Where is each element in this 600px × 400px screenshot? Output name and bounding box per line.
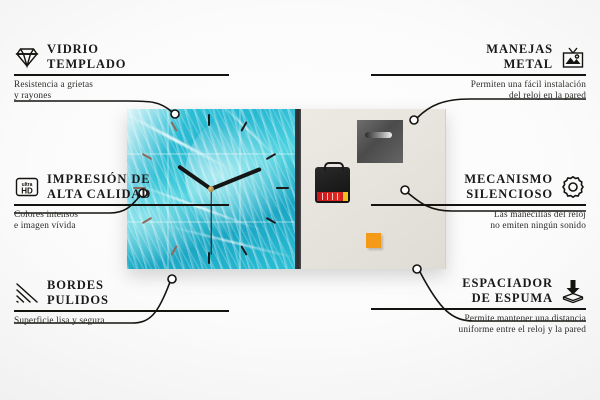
feature-desc-line2: uniforme entre el reloj y la pared bbox=[371, 325, 586, 337]
feature-desc-line1: Superficie lisa y segura bbox=[14, 316, 229, 328]
foam-spacer bbox=[366, 233, 381, 248]
feature-impresion-alta-calidad: ultra HD IMPRESIÓN DE ALTA CALIDAD Color… bbox=[14, 172, 229, 233]
clock-mechanism bbox=[315, 167, 350, 203]
feature-desc-line2: del reloj en la pared bbox=[371, 91, 586, 103]
feature-manejas-metal: MANEJAS METAL Permiten una fácil instala… bbox=[371, 42, 586, 103]
feature-title-line2: ALTA CALIDAD bbox=[47, 187, 151, 202]
feature-desc-line1: Permite mantener una distancia bbox=[371, 314, 586, 326]
feature-desc-line1: Permiten una fácil instalación bbox=[371, 80, 586, 92]
feature-title-line1: MANEJAS bbox=[486, 42, 553, 57]
feature-title-line1: VIDRIO bbox=[47, 42, 126, 57]
feature-espaciador-espuma: ESPACIADOR DE ESPUMA Permite mantener un… bbox=[371, 276, 586, 337]
hanger-plate bbox=[357, 120, 403, 163]
feature-divider bbox=[14, 204, 229, 206]
foam-spacer-icon bbox=[560, 278, 586, 304]
gear-icon bbox=[560, 174, 586, 200]
diamond-icon bbox=[14, 44, 40, 70]
framed-picture-icon bbox=[560, 44, 586, 70]
feature-title-line2: PULIDOS bbox=[47, 293, 109, 308]
feature-divider bbox=[371, 74, 586, 76]
feature-title-line2: TEMPLADO bbox=[47, 57, 126, 72]
feature-desc-line1: Resistencia a grietas bbox=[14, 80, 229, 92]
feature-mecanismo-silencioso: MECANISMO SILENCIOSO Las manecillas del … bbox=[371, 172, 586, 233]
feature-desc-line1: Las manecillas del reloj bbox=[371, 210, 586, 222]
feature-desc-line2: y rayones bbox=[14, 91, 229, 103]
polished-edge-icon bbox=[14, 280, 40, 306]
feature-title-line1: IMPRESIÓN DE bbox=[47, 172, 151, 187]
feature-divider bbox=[371, 308, 586, 310]
feature-divider bbox=[14, 74, 229, 76]
feature-divider bbox=[371, 204, 586, 206]
feature-vidrio-templado: VIDRIO TEMPLADO Resistencia a grietas y … bbox=[14, 42, 229, 103]
feature-title-line2: DE ESPUMA bbox=[462, 291, 553, 306]
feature-desc-line2: no emiten ningún sonido bbox=[371, 221, 586, 233]
feature-divider bbox=[14, 310, 229, 312]
feature-title-line1: BORDES bbox=[47, 278, 109, 293]
svg-text:HD: HD bbox=[21, 186, 33, 195]
ultra-hd-icon: ultra HD bbox=[14, 174, 40, 200]
feature-desc-line1: Colores intensos bbox=[14, 210, 229, 222]
feature-bordes-pulidos: BORDES PULIDOS Superficie lisa y segura bbox=[14, 278, 229, 327]
feature-title-line1: ESPACIADOR bbox=[462, 276, 553, 291]
feature-title-line1: MECANISMO bbox=[464, 172, 553, 187]
feature-title-line2: SILENCIOSO bbox=[464, 187, 553, 202]
feature-desc-line2: e imagen vívida bbox=[14, 221, 229, 233]
infographic-canvas: VIDRIO TEMPLADO Resistencia a grietas y … bbox=[0, 0, 600, 400]
feature-title-line2: METAL bbox=[486, 57, 553, 72]
